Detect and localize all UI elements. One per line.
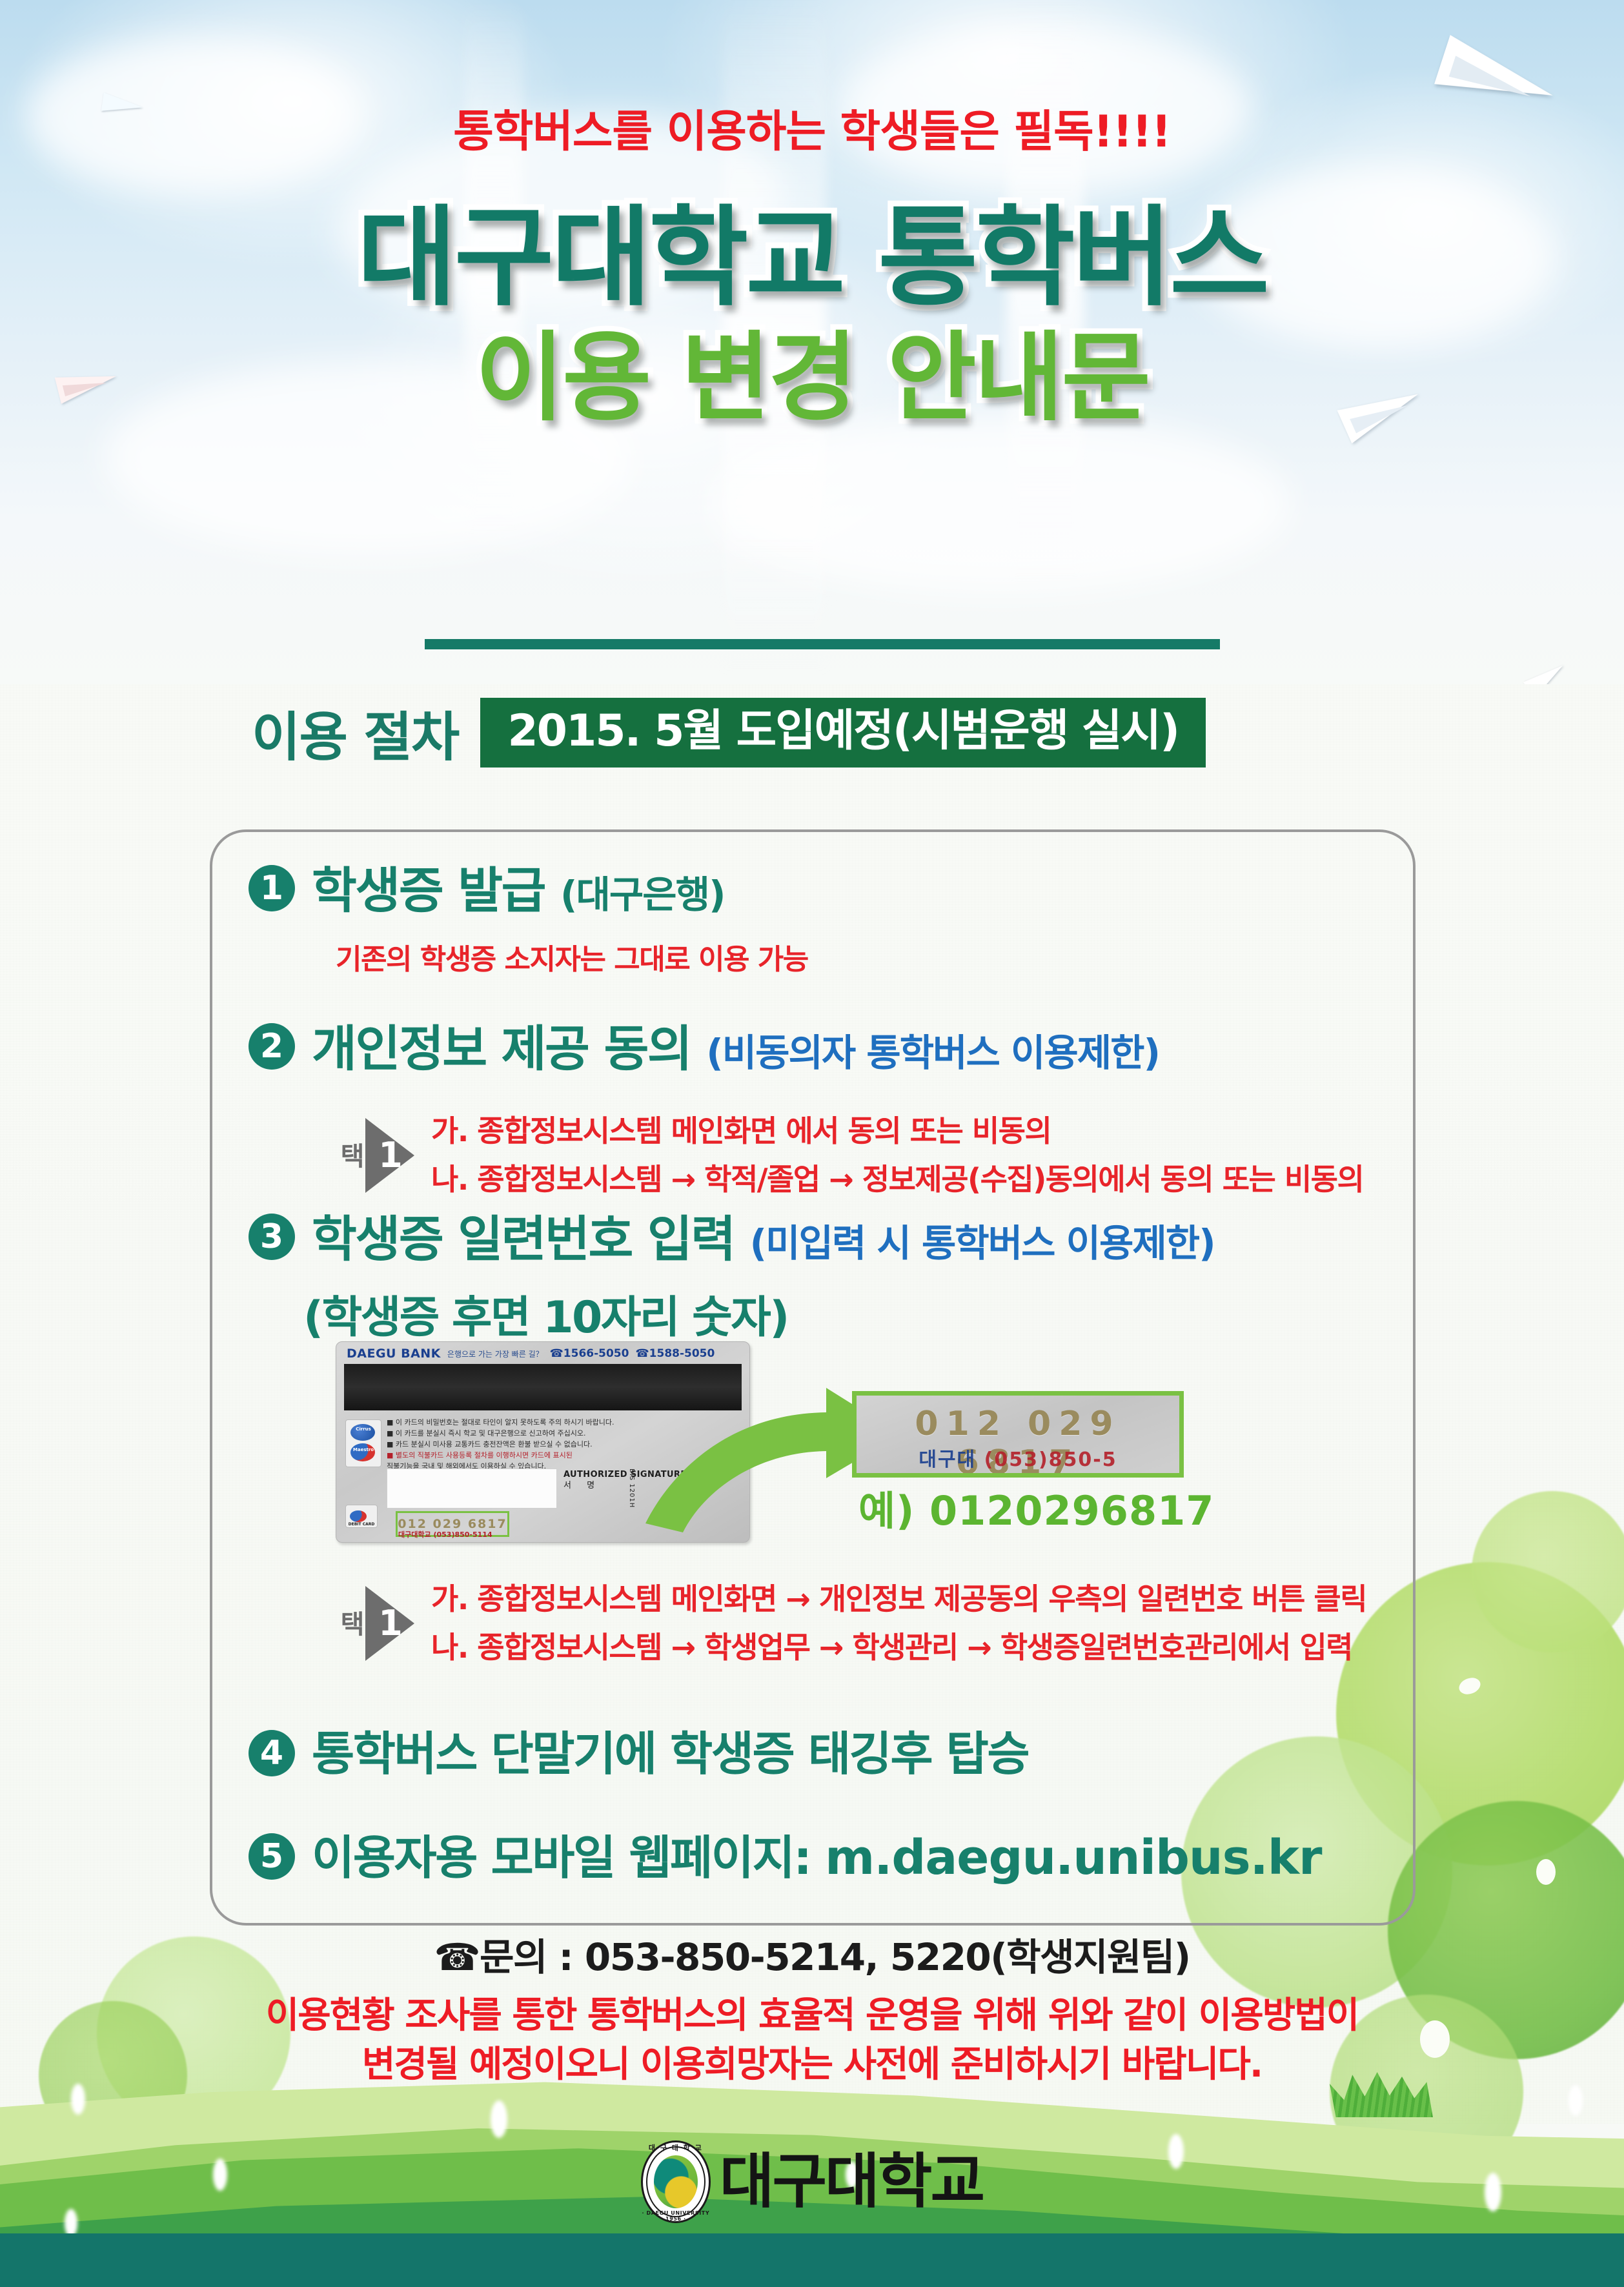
sparkle-icon xyxy=(1568,2085,1583,2116)
step-1-title-text: 학생증 발급 xyxy=(312,862,545,919)
cirrus-maestro-logo-icon: Cirrus Maestro xyxy=(345,1419,381,1467)
step-5-title-text: 이용자용 모바일 웹페이지: xyxy=(312,1831,811,1885)
university-logo: 대 구 대 학 교 · DAEGU UNIVERSITY 1956 · 대구대학… xyxy=(0,2140,1624,2223)
signature-panel xyxy=(387,1469,557,1509)
university-name: 대구대학교 xyxy=(720,2152,983,2211)
section-label: 이용 절차 xyxy=(252,694,458,771)
step-1: 1 학생증 발급 (대구은행) xyxy=(249,865,725,917)
step-number-badge: 4 xyxy=(249,1730,295,1776)
emblem-top-text: 대 구 대 학 교 xyxy=(641,2142,711,2153)
step-number-badge: 3 xyxy=(249,1214,295,1260)
zoomed-card-footer: 대구대 (053)850-5 xyxy=(857,1443,1179,1472)
step-3-title-text: 학생증 일련번호 입력 xyxy=(312,1210,735,1268)
pick-number: 1 xyxy=(376,1604,405,1643)
maestro-label: Maestro xyxy=(346,1447,381,1452)
step-3: 3 학생증 일련번호 입력 (미입력 시 통학버스 이용제한) xyxy=(249,1214,1215,1265)
step-3-option-a: 가. 종합정보시스템 메인화면 → 개인정보 제공동의 우측의 일련번호 버튼 … xyxy=(431,1575,1366,1623)
step-4: 4 통학버스 단말기에 학생증 태깅후 탑승 xyxy=(249,1730,1028,1779)
poster-root: 통학버스를 이용하는 학생들은 필독!!!! 대구대학교 통학버스 이용 변경 … xyxy=(0,0,1624,2287)
step-2-option-a: 가. 종합정보시스템 메인화면 에서 동의 또는 비동의 xyxy=(431,1107,1363,1155)
footer-notice-line-1: 이용현황 조사를 통한 통학버스의 효율적 운영을 위해 위와 같이 이용방법이 xyxy=(0,1991,1624,2040)
title-line-1: 대구대학교 통학버스 xyxy=(0,197,1624,318)
step-2-option-b: 나. 종합정보시스템 → 학적/졸업 → 정보제공(수집)동의에서 동의 또는 … xyxy=(431,1155,1363,1204)
section-banner: 2015. 5월 도입예정(시범운행 실시) xyxy=(480,698,1206,767)
bank-tagline: 은행으로 가는 가장 빠른 길？ xyxy=(447,1348,543,1359)
step-2-paren: (비동의자 통학버스 이용제한) xyxy=(706,1031,1159,1075)
step-1-title: 학생증 발급 (대구은행) xyxy=(312,865,725,917)
blob-highlight xyxy=(1536,1859,1556,1885)
sparkle-icon xyxy=(491,2100,507,2138)
cirrus-label: Cirrus xyxy=(346,1427,381,1432)
step-number-badge: 1 xyxy=(249,865,295,911)
step-3-title: 학생증 일련번호 입력 (미입력 시 통학버스 이용제한) xyxy=(312,1214,1215,1265)
step-2: 2 개인정보 제공 동의 (비동의자 통학버스 이용제한) xyxy=(249,1023,1159,1075)
serial-example-text: 예) 0120296817 xyxy=(858,1478,1214,1536)
step-5: 5 이용자용 모바일 웹페이지: m.daegu.unibus.kr xyxy=(249,1833,1321,1884)
university-emblem-icon: 대 구 대 학 교 · DAEGU UNIVERSITY 1956 · xyxy=(641,2140,711,2223)
card-footer-text: 대구대학교 (053)850-5114 xyxy=(398,1529,492,1540)
step-3-paren: (미입력 시 통학버스 이용제한) xyxy=(750,1221,1215,1265)
title-divider xyxy=(425,639,1220,649)
step-1-subtext: 기존의 학생증 소지자는 그대로 이용 가능 xyxy=(336,936,808,977)
debit-card-label: DEBIT CARD xyxy=(346,1522,377,1527)
watercolor-blob xyxy=(1472,1491,1624,1652)
pick-number: 1 xyxy=(376,1136,405,1175)
step-5-title: 이용자용 모바일 웹페이지: m.daegu.unibus.kr xyxy=(312,1833,1321,1884)
step-2-title-text: 개인정보 제공 동의 xyxy=(312,1020,691,1077)
card-footer-university: 대구대학교 xyxy=(398,1530,431,1539)
step-2-options: 가. 종합정보시스템 메인화면 에서 동의 또는 비동의 나. 종합정보시스템 … xyxy=(431,1107,1363,1203)
serial-zoom-box: 012 029 6817 대구대 (053)850-5 xyxy=(852,1391,1184,1478)
pick-triangle-icon: 1 xyxy=(365,1586,414,1661)
grass-icon xyxy=(1330,2072,1433,2117)
step-3-subtitle: (학생증 후면 10자리 숫자) xyxy=(303,1281,788,1345)
step-4-title: 통학버스 단말기에 학생증 태깅후 탑승 xyxy=(312,1730,1028,1779)
section-header: 이용 절차 2015. 5월 도입예정(시범운행 실시) xyxy=(252,694,1206,771)
zoomed-footer-university: 대구대 xyxy=(919,1448,976,1471)
sparkle-icon xyxy=(71,2084,85,2115)
debit-card-logo-icon: DEBIT CARD xyxy=(345,1505,378,1528)
emblem-bottom-text: · DAEGU UNIVERSITY 1956 · xyxy=(641,2210,711,2222)
card-header-row: DAEGU BANK 은행으로 가는 가장 빠른 길？ ☎1566-5050 ☎… xyxy=(336,1345,749,1363)
poster-title: 대구대학교 통학버스 이용 변경 안내문 xyxy=(0,197,1624,434)
step-2-title: 개인정보 제공 동의 (비동의자 통학버스 이용제한) xyxy=(312,1023,1159,1075)
step-3-options: 가. 종합정보시스템 메인화면 → 개인정보 제공동의 우측의 일련번호 버튼 … xyxy=(431,1575,1366,1671)
bank-tel-1: ☎1566-5050 xyxy=(550,1347,629,1360)
bank-tel-2: ☎1588-5050 xyxy=(635,1347,715,1360)
step-3-pick-one-group: 택 1 가. 종합정보시스템 메인화면 → 개인정보 제공동의 우측의 일련번호… xyxy=(337,1575,1366,1671)
title-line-2: 이용 변경 안내문 xyxy=(0,322,1624,434)
zoomed-footer-tel: (053)850-5 xyxy=(984,1448,1117,1471)
step-1-paren: (대구은행) xyxy=(560,873,724,917)
pick-label: 택 xyxy=(337,1143,363,1168)
mobile-webpage-url[interactable]: m.daegu.unibus.kr xyxy=(825,1830,1321,1886)
step-number-badge: 2 xyxy=(249,1023,295,1070)
bottom-teal-band xyxy=(0,2233,1624,2287)
pick-triangle-icon: 1 xyxy=(365,1118,414,1193)
card-footer-tel: (053)850-5114 xyxy=(433,1530,492,1539)
kicker-text: 통학버스를 이용하는 학생들은 필독!!!! xyxy=(0,96,1624,159)
step-3-option-b: 나. 종합정보시스템 → 학생업무 → 학생관리 → 학생증일련번호관리에서 입… xyxy=(431,1623,1366,1672)
contact-line: ☎문의 : 053-850-5214, 5220(학생지원팀) xyxy=(0,1927,1624,1981)
step-number-badge: 5 xyxy=(249,1833,295,1880)
step-2-pick-one-group: 택 1 가. 종합정보시스템 메인화면 에서 동의 또는 비동의 나. 종합정보… xyxy=(337,1107,1363,1203)
pick-label: 택 xyxy=(337,1611,363,1636)
bank-name: DAEGU BANK xyxy=(347,1347,441,1361)
